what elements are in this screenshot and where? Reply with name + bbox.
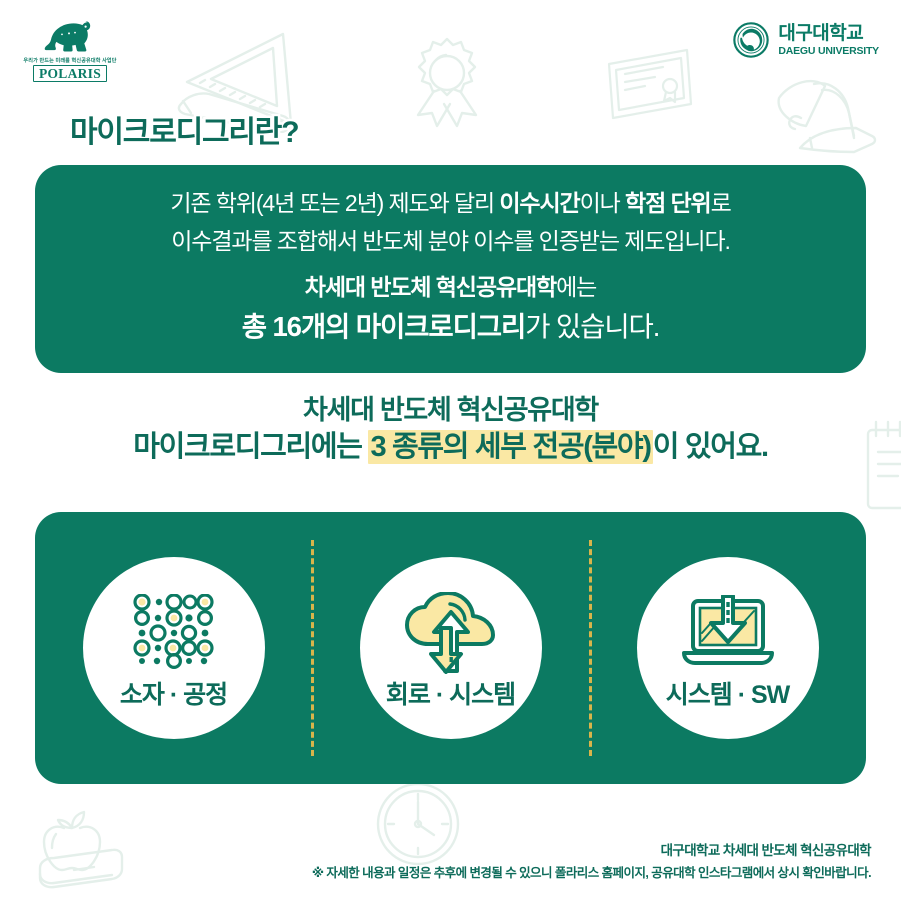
option-label: 시스템 · SW	[666, 683, 790, 708]
desk-lamp-icon	[770, 72, 880, 167]
cloud-upload-download-icon	[404, 589, 498, 677]
info-line-4: 총 16개의 마이크로디그리가 있습니다.	[242, 306, 660, 349]
footer-org: 대구대학교 차세대 반도체 혁신공유대학	[312, 841, 871, 861]
daegu-name-en: DAEGU UNIVERSITY	[778, 46, 879, 57]
info-line-3: 차세대 반도체 혁신공유대학에는	[305, 269, 596, 306]
infographic-page: 우리가 만드는 미래를 혁신공유대학 사업단 POLARIS 대구대학교 DAE…	[0, 0, 901, 901]
mid-headline-line-1: 차세대 반도체 혁신공유대학	[0, 393, 901, 428]
footer: 대구대학교 차세대 반도체 혁신공유대학 ※ 자세한 내용과 일정은 추후에 변…	[312, 841, 871, 883]
daegu-university-emblem-icon	[733, 22, 769, 58]
polaris-tagline: 우리가 만드는 미래를 혁신공유대학 사업단	[0, 59, 142, 64]
polar-bear-icon	[41, 18, 99, 58]
info-line-2: 이수결과를 조합해서 반도체 분야 이수를 인증받는 제도입니다.	[171, 223, 730, 260]
info-box: 기존 학위(4년 또는 2년) 제도와 달리 이수시간이나 학점 단위로 이수결…	[35, 165, 866, 373]
mid-headline: 차세대 반도체 혁신공유대학 마이크로디그리에는 3 종류의 세부 전공(분야)…	[0, 393, 901, 466]
daegu-university-logo: 대구대학교 DAEGU UNIVERSITY	[733, 22, 879, 58]
option-divider-2	[589, 540, 592, 756]
option-device-process[interactable]: 소자 · 공정	[35, 512, 312, 784]
polaris-wordmark-box: POLARIS	[33, 65, 107, 82]
option-system-sw[interactable]: 시스템 · SW	[589, 512, 866, 784]
laptop-download-icon	[678, 589, 778, 677]
polaris-wordmark: POLARIS	[39, 66, 101, 82]
option-divider-1	[311, 540, 314, 756]
polaris-logo: 우리가 만드는 미래를 혁신공유대학 사업단 POLARIS	[22, 18, 118, 90]
daegu-university-names: 대구대학교 DAEGU UNIVERSITY	[778, 24, 879, 57]
option-circle[interactable]: 회로 · 시스템	[360, 557, 542, 739]
mid-headline-line-2: 마이크로디그리에는 3 종류의 세부 전공(분야)이 있어요.	[0, 428, 901, 467]
option-circle[interactable]: 시스템 · SW	[637, 557, 819, 739]
option-circle[interactable]: 소자 · 공정	[83, 557, 265, 739]
mid-headline-prefix: 마이크로디그리에는	[133, 431, 368, 463]
dot-matrix-wafer-icon	[132, 589, 216, 677]
daegu-name-kr: 대구대학교	[778, 24, 879, 43]
info-line-1: 기존 학위(4년 또는 2년) 제도와 달리 이수시간이나 학점 단위로	[170, 185, 730, 222]
mid-headline-highlight: 3 종류의 세부 전공(분야)	[368, 430, 652, 464]
option-label: 소자 · 공정	[120, 683, 227, 708]
option-circuit-system[interactable]: 회로 · 시스템	[312, 512, 589, 784]
award-ribbon-icon	[412, 35, 482, 130]
footer-notice: ※ 자세한 내용과 일정은 추후에 변경될 수 있으니 폴라리스 홈페이지, 공…	[312, 863, 871, 883]
options-card: 소자 · 공정	[35, 512, 866, 784]
page-title: 마이크로디그리란?	[70, 118, 298, 148]
option-label: 회로 · 시스템	[386, 683, 515, 708]
mid-headline-suffix: 이 있어요.	[653, 431, 768, 463]
certificate-icon	[603, 48, 695, 120]
apple-on-book-icon	[28, 806, 133, 896]
